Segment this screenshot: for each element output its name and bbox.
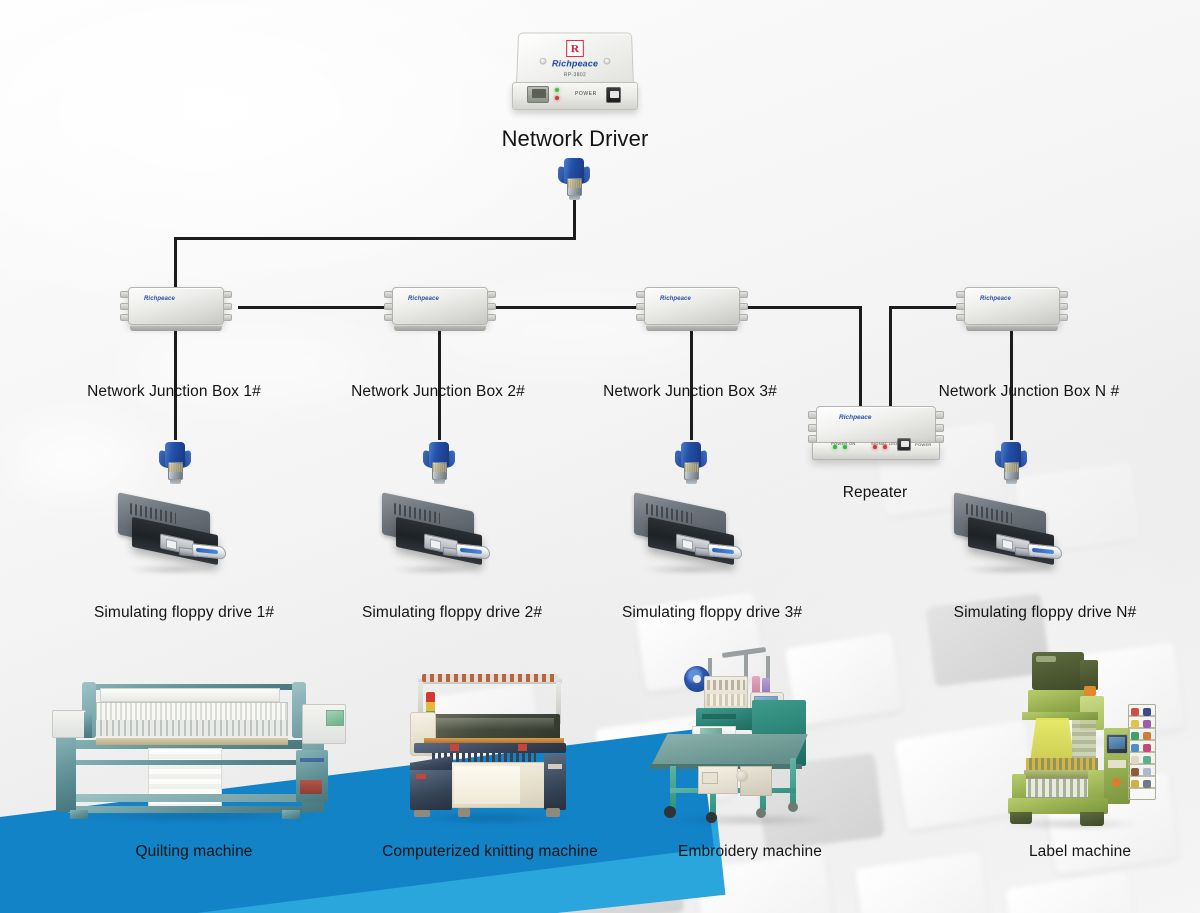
repeater-brand-label: Richpeace [839, 414, 872, 421]
network-driver-label: Network Driver [450, 126, 700, 152]
floppy-emulator-n[interactable] [952, 498, 1070, 578]
junction-box-1-label: Network Junction Box 1# [64, 383, 284, 401]
junction-box-brand-label: Richpeace [408, 296, 439, 302]
junction-box-brand-label: Richpeace [660, 296, 691, 302]
knitting-machine-photo[interactable] [396, 670, 586, 822]
floppy-emulator-1[interactable] [116, 498, 234, 578]
junction-box-3[interactable]: Richpeace [636, 283, 748, 333]
junction-box-brand-label: Richpeace [980, 296, 1011, 302]
driver-top-panel: R Richpeace RP-3802 [516, 33, 634, 85]
floppy-emulator-1-label: Simulating floppy drive 1# [70, 604, 298, 622]
power-port-icon [606, 87, 621, 103]
embroidery-machine-label: Embroidery machine [620, 843, 880, 861]
rj45-port-icon [527, 86, 549, 103]
power-port-icon [897, 438, 911, 451]
quilting-machine-label: Quilting machine [74, 843, 314, 861]
junction-box-1[interactable]: Richpeace [120, 283, 232, 333]
floppy-emulator-2[interactable] [380, 498, 498, 578]
floppy-emulator-3[interactable] [632, 498, 750, 578]
rj45-connector-drive-3 [678, 442, 704, 484]
junction-box-n[interactable]: Richpeace [956, 283, 1068, 333]
floppy-emulator-3-label: Simulating floppy drive 3# [598, 604, 826, 622]
driver-model-label: RP-3802 [564, 72, 586, 78]
repeater-power-label: POWER [915, 442, 932, 447]
junction-box-brand-label: Richpeace [144, 296, 175, 302]
richpeace-logo-icon: R [566, 40, 584, 57]
repeater-label: Repeater [790, 484, 960, 502]
knitting-machine-label: Computerized knitting machine [330, 843, 650, 861]
screw-icon [603, 58, 610, 65]
quilting-machine-photo[interactable] [44, 676, 344, 820]
rj45-connector-drive-1 [162, 442, 188, 484]
junction-box-n-label: Network Junction Box N # [916, 383, 1142, 401]
driver-power-label: POWER [575, 91, 597, 97]
label-machine-label: Label machine [1000, 843, 1160, 861]
driver-front-panel: POWER [512, 82, 638, 110]
rj45-connector-driver [561, 158, 587, 200]
junction-box-3-label: Network Junction Box 3# [580, 383, 800, 401]
status-led-red [555, 96, 559, 100]
junction-box-2[interactable]: Richpeace [384, 283, 496, 333]
network-driver-device[interactable]: R Richpeace RP-3802 POWER [512, 30, 638, 110]
floppy-emulator-n-label: Simulating floppy drive N# [930, 604, 1160, 622]
rj45-connector-drive-n [998, 442, 1024, 484]
junction-box-2-label: Network Junction Box 2# [328, 383, 548, 401]
repeater-front-panel: POWER ON SIGNAL LED POWER [812, 442, 940, 460]
screw-icon [539, 58, 546, 65]
label-machine-photo[interactable] [988, 648, 1158, 828]
repeater-device[interactable]: Richpeace POWER ON SIGNAL LED POWER [808, 404, 944, 466]
rj45-connector-drive-2 [426, 442, 452, 484]
topology-diagram: R Richpeace RP-3802 POWER Network Driver… [0, 0, 1200, 913]
status-led-green [555, 88, 559, 92]
embroidery-machine-photo[interactable] [648, 648, 848, 824]
floppy-emulator-2-label: Simulating floppy drive 2# [338, 604, 566, 622]
driver-brand-label: Richpeace [552, 59, 598, 69]
